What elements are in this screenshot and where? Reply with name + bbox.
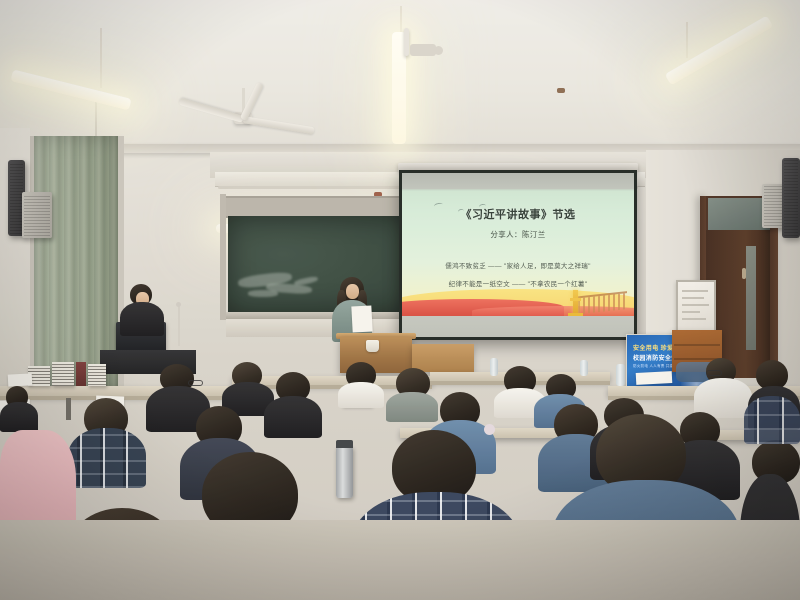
eyeglasses [706,370,722,376]
podium-cup [366,340,379,352]
speaker-mesh [24,194,50,236]
slide-bottom-band [402,316,634,337]
projector-lens [434,46,443,55]
slide-line-1: 儒鸿不致贫乏 —— "家给人足，即是莫大之祥瑞" [402,260,634,270]
teacher-body [120,302,164,336]
notice-text-line [682,318,706,320]
student-body [68,428,146,488]
blackboard-upper-panel [224,196,416,218]
book-stack [88,364,106,386]
book-stack [52,362,74,386]
thermos-flask [336,446,353,498]
notice-board [676,280,716,332]
slide-top-band [402,173,634,189]
presenter-face [346,284,359,299]
door-glass-panel [746,246,756,350]
student-body [264,396,322,438]
slide-line-2: 纪律不能是一纸空文 —— "不拿农民一个红薯" [402,278,634,288]
chalk-tray [226,312,412,319]
water-bottle [490,358,498,376]
curtain-sheen [34,136,120,386]
projection-screen[interactable]: 《习近平讲故事》节选 分享人：陈汀兰 儒鸿不致贫乏 —— "家给人足，即是莫大之… [399,170,637,340]
cabinet-seam [674,344,720,346]
notice-text-line [682,311,700,313]
student-body [744,396,800,444]
notice-text-line [682,290,708,292]
light-rod [400,6,402,34]
green-chalkboard [228,216,410,312]
thermos-cap [336,440,353,448]
slide-presenter: 分享人：陈汀兰 [402,229,634,240]
desk-leg [66,398,71,420]
water-bottle [616,364,625,386]
projector-mount [404,28,409,56]
chalk-mark [294,276,319,287]
loose-paper [636,371,673,385]
water-bottle [580,360,588,376]
student-body [386,392,438,422]
door-handle[interactable] [742,268,746,279]
wall-speaker-left-secondary [22,192,52,238]
microphone-stand [178,306,180,346]
notice-text-line [682,304,709,306]
floor [0,520,800,600]
chalk-mark [248,290,278,297]
presenter-papers [351,305,372,332]
board-rail-left [220,194,226,320]
slide-monument-icon [573,290,578,316]
hair-tie [484,424,495,435]
slide-title: 《习近平讲故事》节选 [402,206,634,222]
microphone [176,302,181,307]
slide-content: 《习近平讲故事》节选 分享人：陈汀兰 儒鸿不致贫乏 —— "家给人足，即是莫大之… [402,173,634,337]
light-rod [100,28,102,88]
wall-speaker-right [782,158,800,238]
eyeglasses [188,380,203,386]
window-curtain [34,136,120,386]
red-book [76,362,86,386]
student-body [0,402,38,432]
loose-paper [8,373,33,386]
speaker-mesh [784,160,798,236]
ceiling-fixture [557,88,565,93]
classroom-photo: 《习近平讲故事》节选 分享人：陈汀兰 儒鸿不致贫乏 —— "家给人足，即是莫大之… [0,0,800,600]
side-table [412,344,474,372]
notice-text-line [682,297,704,299]
light-rod [686,22,688,58]
projector [410,44,436,56]
student-body [338,382,384,408]
